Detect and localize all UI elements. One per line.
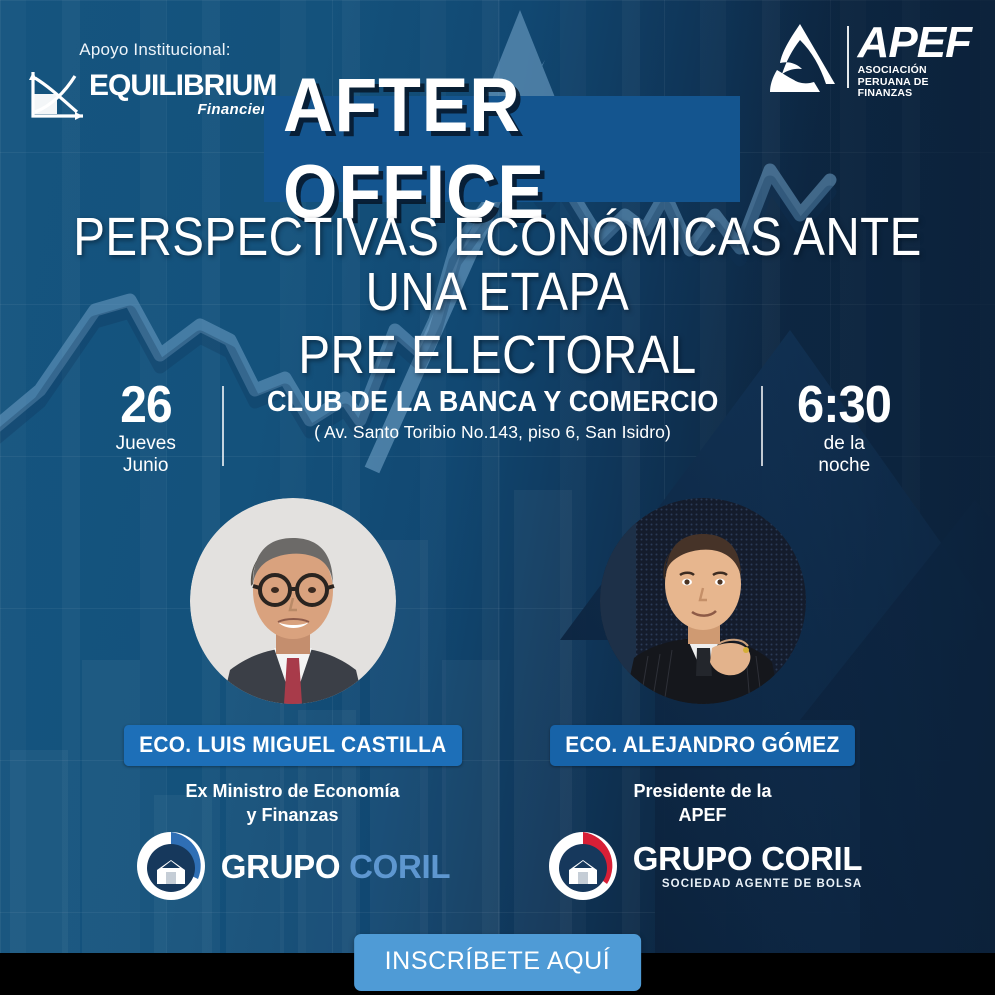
speaker-name-badge: ECO. ALEJANDRO GÓMEZ	[550, 725, 855, 766]
subtitle-line-2: PRE ELECTORAL	[60, 328, 936, 383]
equilibrium-name: EQUILIBRIUM	[89, 71, 276, 101]
grupo-coril-logo: GRUPO CORIL	[116, 828, 468, 904]
apef-logo: APEF ASOCIACIÓN PERUANA DE FINANZAS	[764, 22, 971, 100]
speaker-card: ECO. LUIS MIGUEL CASTILLA Ex Ministro de…	[117, 498, 469, 828]
register-button[interactable]: INSCRÍBETE AQUÍ	[354, 934, 642, 991]
equilibrium-logo: EQUILIBRIUM Financiero	[25, 66, 285, 122]
info-divider-right	[761, 386, 763, 466]
date-month: Junio	[86, 455, 206, 477]
speaker-role-line1: Ex Ministro de Economía	[185, 780, 399, 804]
speaker-photo-castilla	[190, 498, 396, 704]
event-info-bar: 26 Jueves Junio CLUB DE LA BANCA Y COMER…	[0, 382, 995, 482]
banner-title: AFTER OFFICE	[283, 96, 721, 202]
coril-tagline: SOCIEDAD AGENTE DE BOLSA	[633, 878, 863, 890]
equilibrium-tagline: Financiero	[89, 102, 276, 117]
after-office-banner: AFTER OFFICE	[264, 96, 740, 202]
grupo-coril-sab-logo: GRUPO CORIL SOCIEDAD AGENTE DE BOLSA	[528, 828, 880, 904]
date-day-name: Jueves	[86, 433, 206, 455]
sponsor-label: Apoyo Institucional:	[25, 40, 285, 60]
event-venue: CLUB DE LA BANCA Y COMERCIO ( Av. Santo …	[240, 382, 746, 443]
event-subtitle: PERSPECTIVAS ECONÓMICAS ANTE UNA ETAPA P…	[60, 210, 936, 383]
date-day-number: 26	[91, 382, 201, 430]
coril-ring-icon	[133, 828, 209, 904]
event-time: 6:30 de la noche	[779, 382, 909, 477]
bottom-sponsors: GRUPO CORIL GRUPO CORIL SOCIEDAD AGENTE …	[0, 828, 995, 904]
speaker-name-badge: ECO. LUIS MIGUEL CASTILLA	[124, 725, 462, 766]
speaker-role-line1: Presidente de la	[633, 780, 771, 804]
avatar	[190, 498, 396, 704]
venue-address: ( Av. Santo Toribio No.143, piso 6, San …	[250, 422, 736, 443]
coril-word-1: GRUPO	[221, 848, 341, 885]
speaker-role-line2: APEF	[633, 804, 771, 828]
coril-word-1: GRUPO	[633, 840, 753, 877]
speaker-role: Ex Ministro de Economía y Finanzas	[185, 780, 399, 828]
subtitle-line-1: PERSPECTIVAS ECONÓMICAS ANTE UNA ETAPA	[73, 207, 921, 322]
time-value: 6:30	[783, 382, 905, 430]
apef-shield-icon	[764, 22, 838, 96]
coril-ring-red-icon	[545, 828, 621, 904]
coril-word-2: CORIL	[349, 848, 450, 885]
speaker-role: Presidente de la APEF	[633, 780, 771, 828]
speakers-section: ECO. LUIS MIGUEL CASTILLA Ex Ministro de…	[0, 498, 995, 828]
time-label-2: noche	[779, 455, 909, 477]
institutional-sponsor: Apoyo Institucional: EQUILIBRIUM Financi…	[25, 40, 285, 122]
apef-line3: FINANZAS	[858, 88, 971, 100]
coril-word-2: CORIL	[761, 840, 862, 877]
info-divider-left	[222, 386, 224, 466]
speaker-card: ECO. ALEJANDRO GÓMEZ Presidente de la AP…	[527, 498, 879, 828]
apef-divider	[847, 26, 849, 88]
supply-demand-chart-icon	[25, 66, 87, 122]
event-flyer: Apoyo Institucional: EQUILIBRIUM Financi…	[0, 0, 995, 995]
apef-acronym: APEF	[858, 24, 971, 62]
avatar	[600, 498, 806, 704]
speaker-role-line2: y Finanzas	[185, 804, 399, 828]
event-date: 26 Jueves Junio	[86, 382, 206, 477]
speaker-photo-gomez	[600, 498, 806, 704]
venue-name: CLUB DE LA BANCA Y COMERCIO	[267, 386, 719, 419]
time-label-1: de la	[779, 433, 909, 455]
